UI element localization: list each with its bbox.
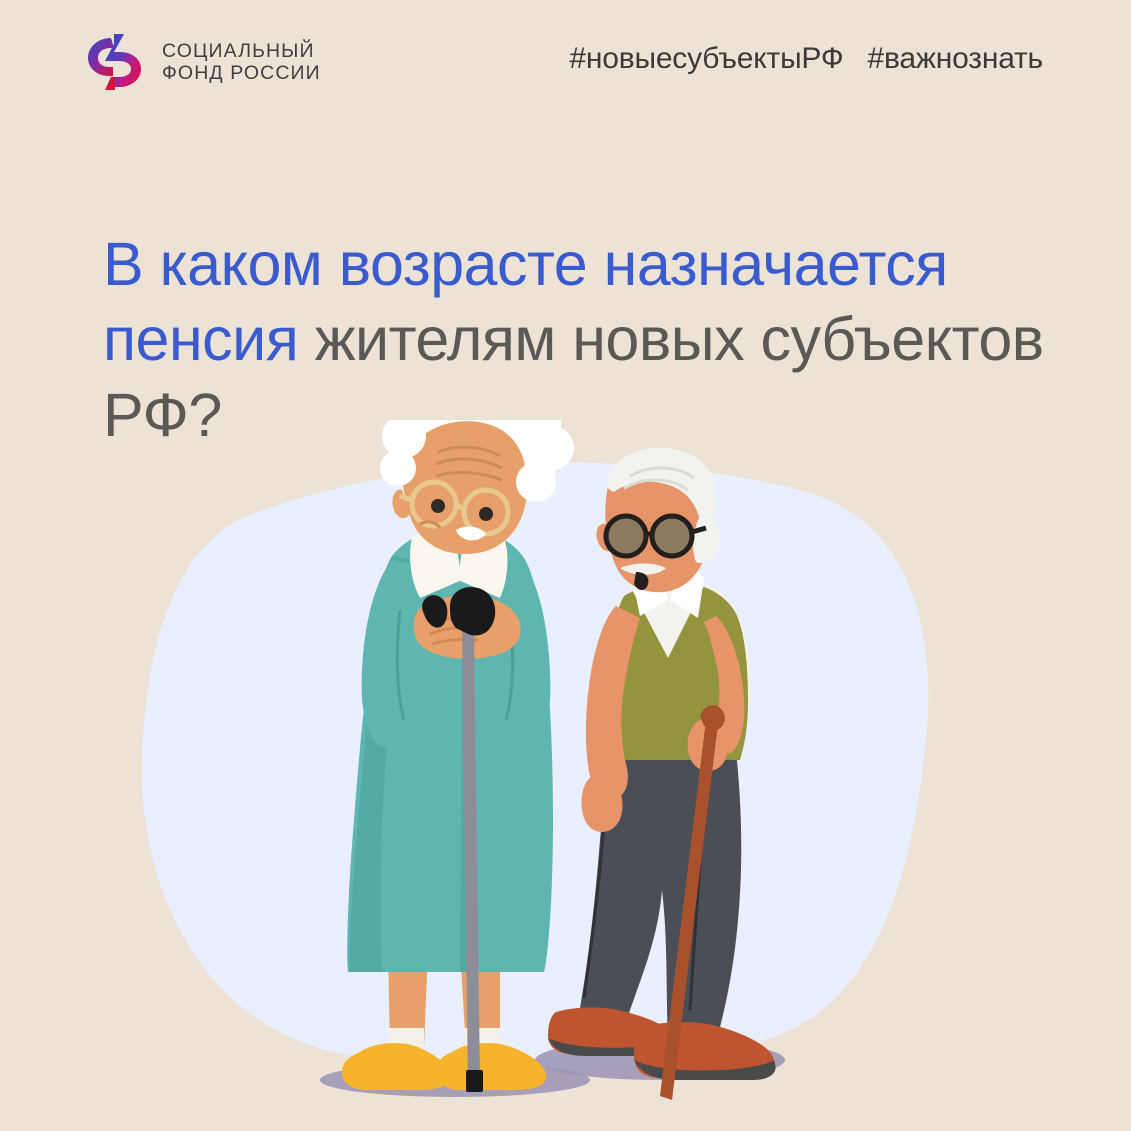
woman-cane-tip	[466, 1070, 483, 1092]
illustration-elderly-couple	[0, 420, 1131, 1131]
brand-logo-line-2: ФОНД РОССИИ	[162, 62, 321, 84]
woman-hair-curl-7	[516, 462, 556, 502]
sfr-monogram-logo-icon	[84, 34, 146, 90]
hashtag-important-to-know[interactable]: #важнознать	[868, 42, 1043, 76]
man-glasses-lens-right	[652, 516, 692, 556]
woman-glasses-bridge	[456, 506, 464, 509]
hashtag-new-regions[interactable]: #новыесубъектыРФ	[569, 42, 843, 76]
hashtag-group: #новыесубъектыРФ #важнознать	[569, 42, 1043, 76]
woman-hair-curl-8	[380, 450, 416, 486]
woman-cane-handle	[450, 587, 495, 635]
brand-logo-line-1: СОЦИАЛЬНЫЙ	[162, 40, 321, 62]
poster-canvas: СОЦИАЛЬНЫЙ ФОНД РОССИИ #новыесубъектыРФ …	[0, 0, 1131, 1131]
man-right-hand	[581, 778, 622, 832]
brand-logo-text: СОЦИАЛЬНЫЙ ФОНД РОССИИ	[162, 40, 321, 84]
illustration-svg	[0, 420, 1131, 1131]
brand-logo: СОЦИАЛЬНЫЙ ФОНД РОССИИ	[84, 34, 321, 90]
woman-eye-left	[431, 499, 445, 513]
poster-header: СОЦИАЛЬНЫЙ ФОНД РОССИИ #новыесубъектыРФ …	[0, 0, 1131, 120]
woman-eye-right	[479, 507, 493, 521]
man-glasses-lens-left	[606, 516, 646, 556]
